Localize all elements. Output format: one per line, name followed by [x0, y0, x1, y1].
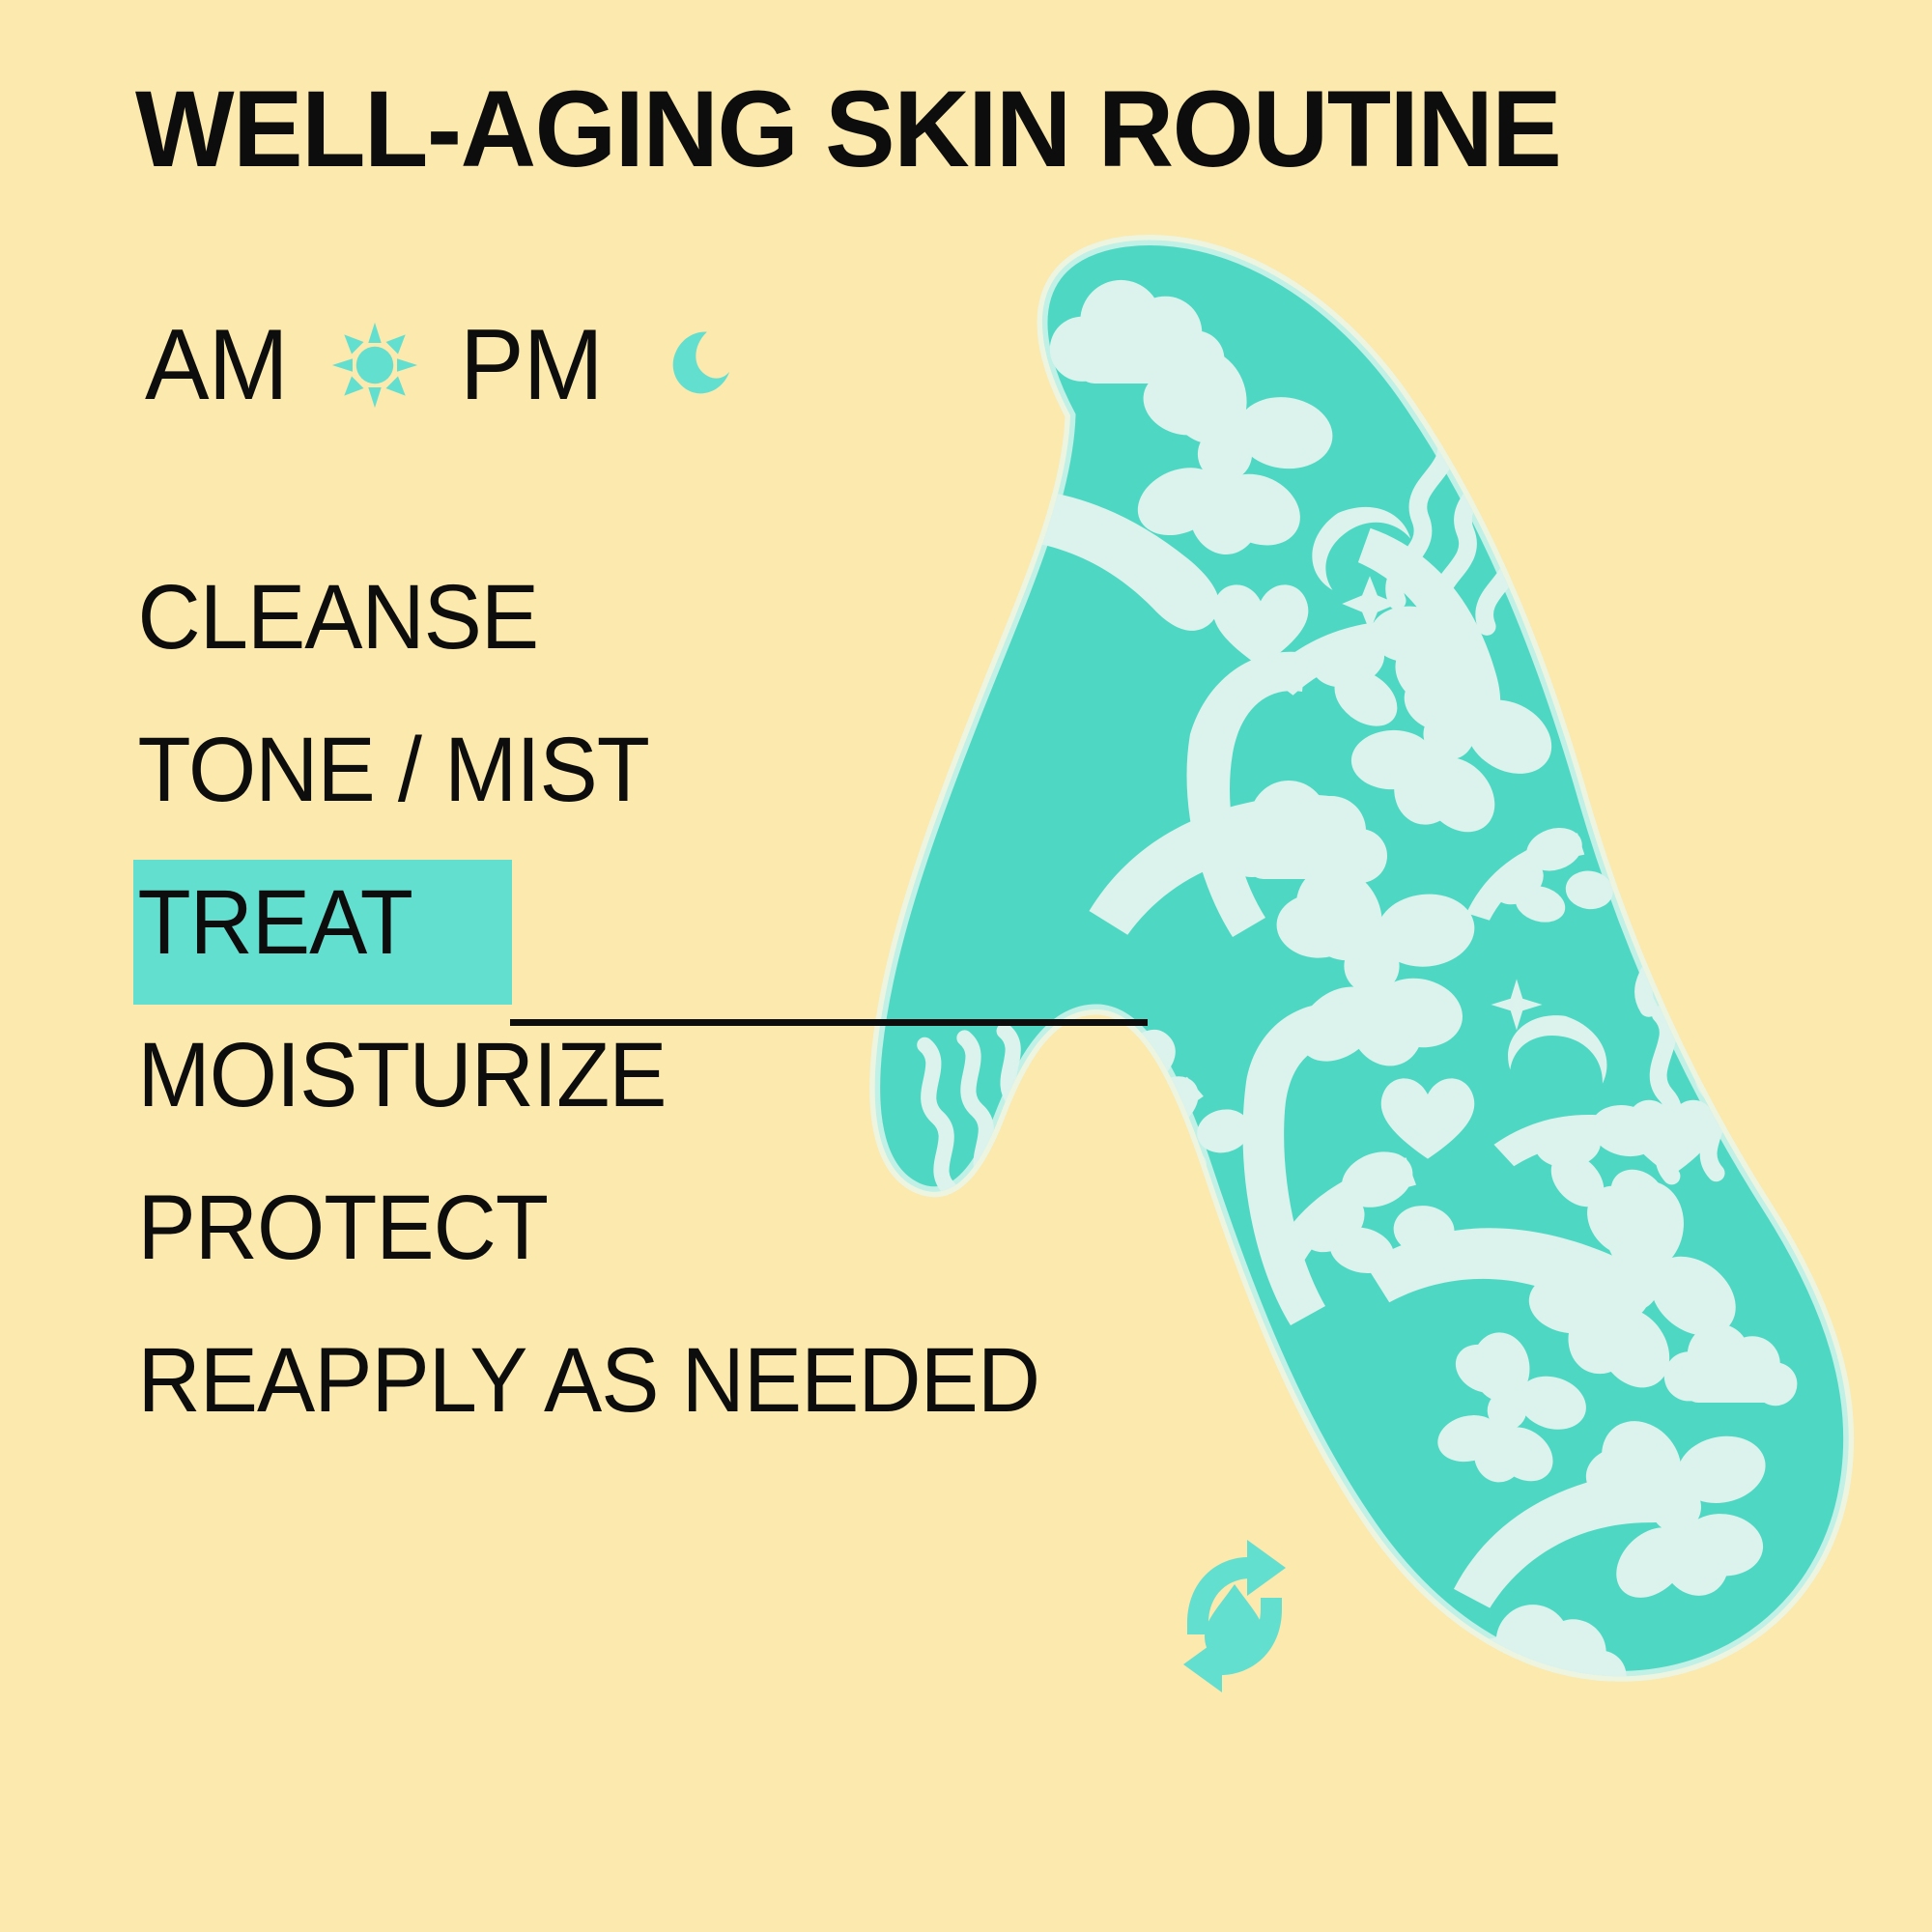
- infographic-poster: WELL-AGING SKIN ROUTINE AM PM: [0, 0, 1932, 1932]
- routine-step-label: CLEANSE: [0, 572, 538, 664]
- moon-icon: [665, 324, 748, 407]
- time-of-day-row: AM PM: [145, 307, 748, 423]
- routine-step-label: TONE / MIST: [0, 724, 649, 816]
- routine-step-tone-mist[interactable]: TONE / MIST: [0, 694, 1063, 846]
- routine-step-treat[interactable]: TREAT: [0, 846, 1063, 999]
- routine-step-label: PROTECT: [0, 1182, 548, 1274]
- routine-step-reapply[interactable]: REAPPLY AS NEEDED: [0, 1304, 1063, 1457]
- page-title: WELL-AGING SKIN ROUTINE: [135, 75, 1560, 184]
- routine-step-cleanse[interactable]: CLEANSE: [0, 541, 1063, 694]
- routine-step-label: TREAT: [0, 877, 412, 969]
- am-label: AM: [145, 315, 288, 415]
- reapply-droplet-refresh-icon: [1172, 1534, 1297, 1698]
- treat-connector-line: [510, 1019, 1148, 1026]
- pm-label: PM: [460, 315, 603, 415]
- routine-steps-list: CLEANSE TONE / MIST TREAT MOISTURIZE PRO…: [0, 541, 1063, 1457]
- sun-icon: [328, 319, 421, 412]
- routine-step-label: REAPPLY AS NEEDED: [0, 1335, 1039, 1427]
- routine-step-label: MOISTURIZE: [0, 1030, 667, 1122]
- routine-step-protect[interactable]: PROTECT: [0, 1151, 1063, 1304]
